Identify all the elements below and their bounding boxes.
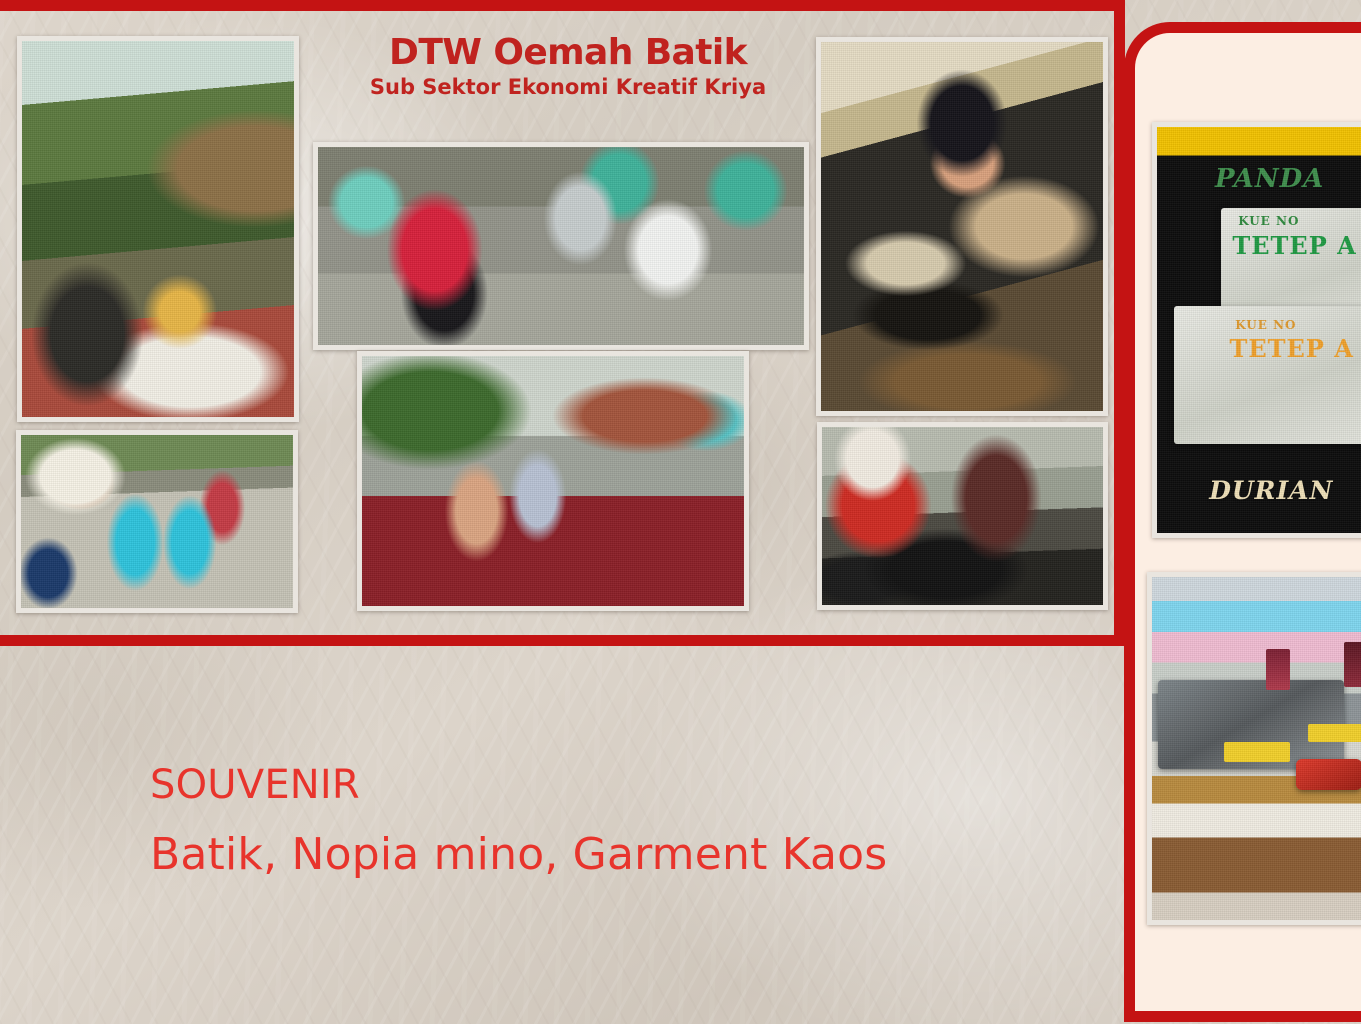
- photo-batik-printing: Pelatihan batik: peserta mencetak motif …: [17, 36, 299, 422]
- photo-canting-waxing: Perajin membatik dengan canting di atas …: [816, 37, 1108, 416]
- nopia-label-pack2-big: TETEP A: [1230, 334, 1354, 363]
- nopia-label-panda: PANDA: [1215, 164, 1324, 194]
- photo-schoolyard-batik: Anak-anak memegang kain batik di halaman…: [16, 430, 298, 613]
- machine-label-tag-left: [1224, 742, 1290, 763]
- photo-classroom-workshop-image: [318, 147, 804, 345]
- souvenir-heading: SOUVENIR: [150, 762, 887, 809]
- photo-village-street-batik: Kain batik dijemur di jalan kampung saat…: [357, 351, 749, 611]
- souvenir-block: SOUVENIR Batik, Nopia mino, Garment Kaos: [150, 762, 887, 882]
- nopia-label-pack2-small: KUE NO: [1235, 318, 1296, 332]
- photo-batik-printing-image: [22, 41, 294, 417]
- title-block: DTW Oemah Batik Sub Sektor Ekonomi Kreat…: [318, 34, 818, 100]
- page-subtitle: Sub Sektor Ekonomi Kreatif Kriya: [318, 74, 818, 100]
- photo-nopia-packaging: PANDA KUE NO TETEP A KUE NO TETEP A DURI…: [1152, 122, 1361, 538]
- nopia-label-durian: DURIAN: [1209, 476, 1333, 505]
- photo-garment-sewing: Mesin obras pada usaha garment kaos: [1147, 572, 1361, 925]
- photo-dyeing-vat: Proses pewarnaan kain batik dalam bak ce…: [817, 422, 1108, 610]
- photo-schoolyard-batik-image: [21, 435, 293, 608]
- photo-nopia-packaging-image: PANDA KUE NO TETEP A KUE NO TETEP A DURI…: [1157, 127, 1361, 533]
- thread-spool-maroon: [1266, 649, 1290, 690]
- red-scissors-handle: [1296, 759, 1361, 790]
- left-panel-divider-rule: [0, 635, 1125, 646]
- photo-village-street-batik-image: [362, 356, 744, 606]
- page-title: DTW Oemah Batik: [318, 34, 818, 72]
- nopia-label-pack1-small: KUE NO: [1238, 214, 1299, 228]
- thread-spool-dark: [1344, 642, 1361, 687]
- slide-canvas: Pelatihan batik: peserta mencetak motif …: [0, 0, 1361, 1024]
- machine-label-tag-right: [1308, 724, 1361, 741]
- nopia-label-pack1-big: TETEP A: [1232, 231, 1356, 260]
- souvenir-items: Batik, Nopia mino, Garment Kaos: [150, 827, 887, 882]
- photo-classroom-workshop: Pelatihan kelompok siswa berseragam hija…: [313, 142, 809, 350]
- photo-garment-sewing-image: [1152, 577, 1361, 920]
- photo-dyeing-vat-image: [822, 427, 1103, 605]
- photo-canting-waxing-image: [821, 42, 1103, 411]
